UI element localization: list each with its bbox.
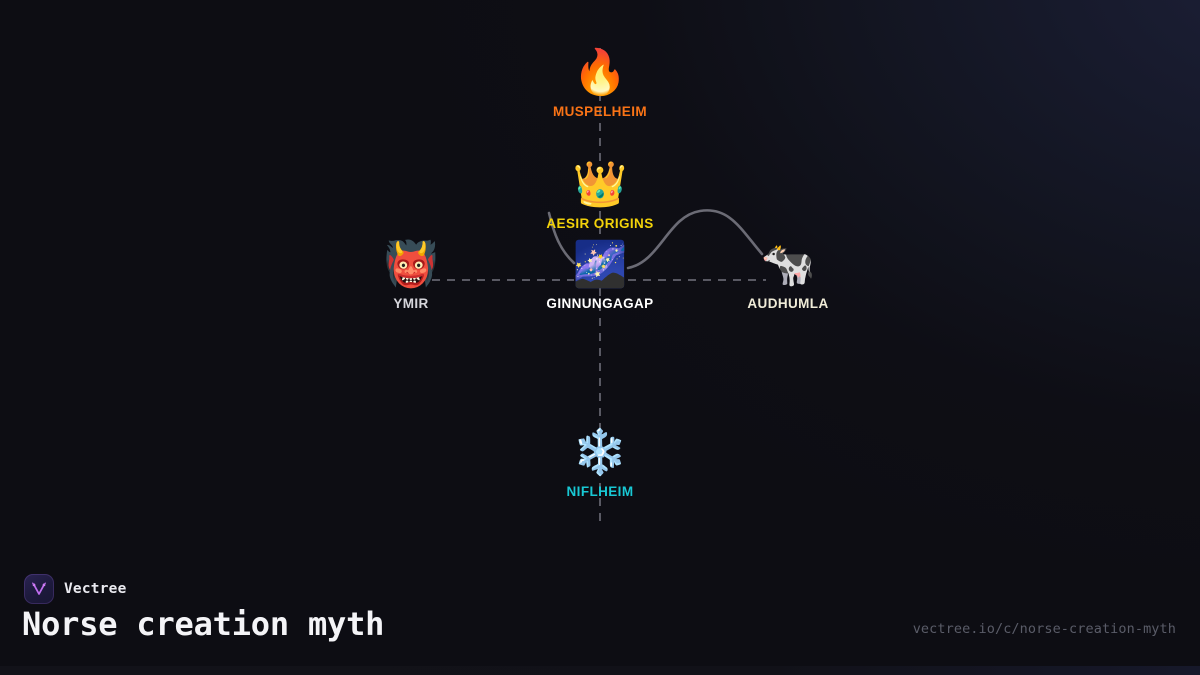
node-aesir-origins[interactable]: 👑 AESIR ORIGINS	[520, 160, 680, 231]
node-label-ginnungagap: GINNUNGAGAP	[520, 296, 680, 311]
footer: Vectree Norse creation myth vectree.io/c…	[0, 563, 1200, 675]
graph-canvas: 🔥 MUSPELHEIM 👑 AESIR ORIGINS 👹 YMIR 🌌 GI…	[0, 0, 1200, 675]
node-label-aesir-origins: AESIR ORIGINS	[520, 216, 680, 231]
footer-url: vectree.io/c/norse-creation-myth	[913, 621, 1176, 637]
vectree-logo-icon	[24, 574, 54, 604]
node-audhumla[interactable]: 🐄 AUDHUMLA	[708, 240, 868, 311]
node-muspelheim[interactable]: 🔥 MUSPELHEIM	[520, 48, 680, 119]
page-title: Norse creation myth	[22, 605, 384, 643]
node-label-ymir: YMIR	[331, 296, 491, 311]
crown-icon: 👑	[520, 160, 680, 210]
brand-name: Vectree	[64, 581, 127, 597]
brand-row[interactable]: Vectree	[24, 574, 127, 604]
node-ginnungagap[interactable]: 🌌 GINNUNGAGAP	[520, 240, 680, 311]
node-label-audhumla: AUDHUMLA	[708, 296, 868, 311]
fire-icon: 🔥	[520, 48, 680, 98]
ogre-icon: 👹	[331, 240, 491, 290]
node-niflheim[interactable]: ❄️ NIFLHEIM	[520, 428, 680, 499]
node-ymir[interactable]: 👹 YMIR	[331, 240, 491, 311]
milky-way-icon: 🌌	[520, 240, 680, 290]
snowflake-icon: ❄️	[520, 428, 680, 478]
cow-icon: 🐄	[708, 240, 868, 290]
node-label-niflheim: NIFLHEIM	[520, 484, 680, 499]
node-label-muspelheim: MUSPELHEIM	[520, 104, 680, 119]
bottom-bar	[0, 666, 1200, 675]
